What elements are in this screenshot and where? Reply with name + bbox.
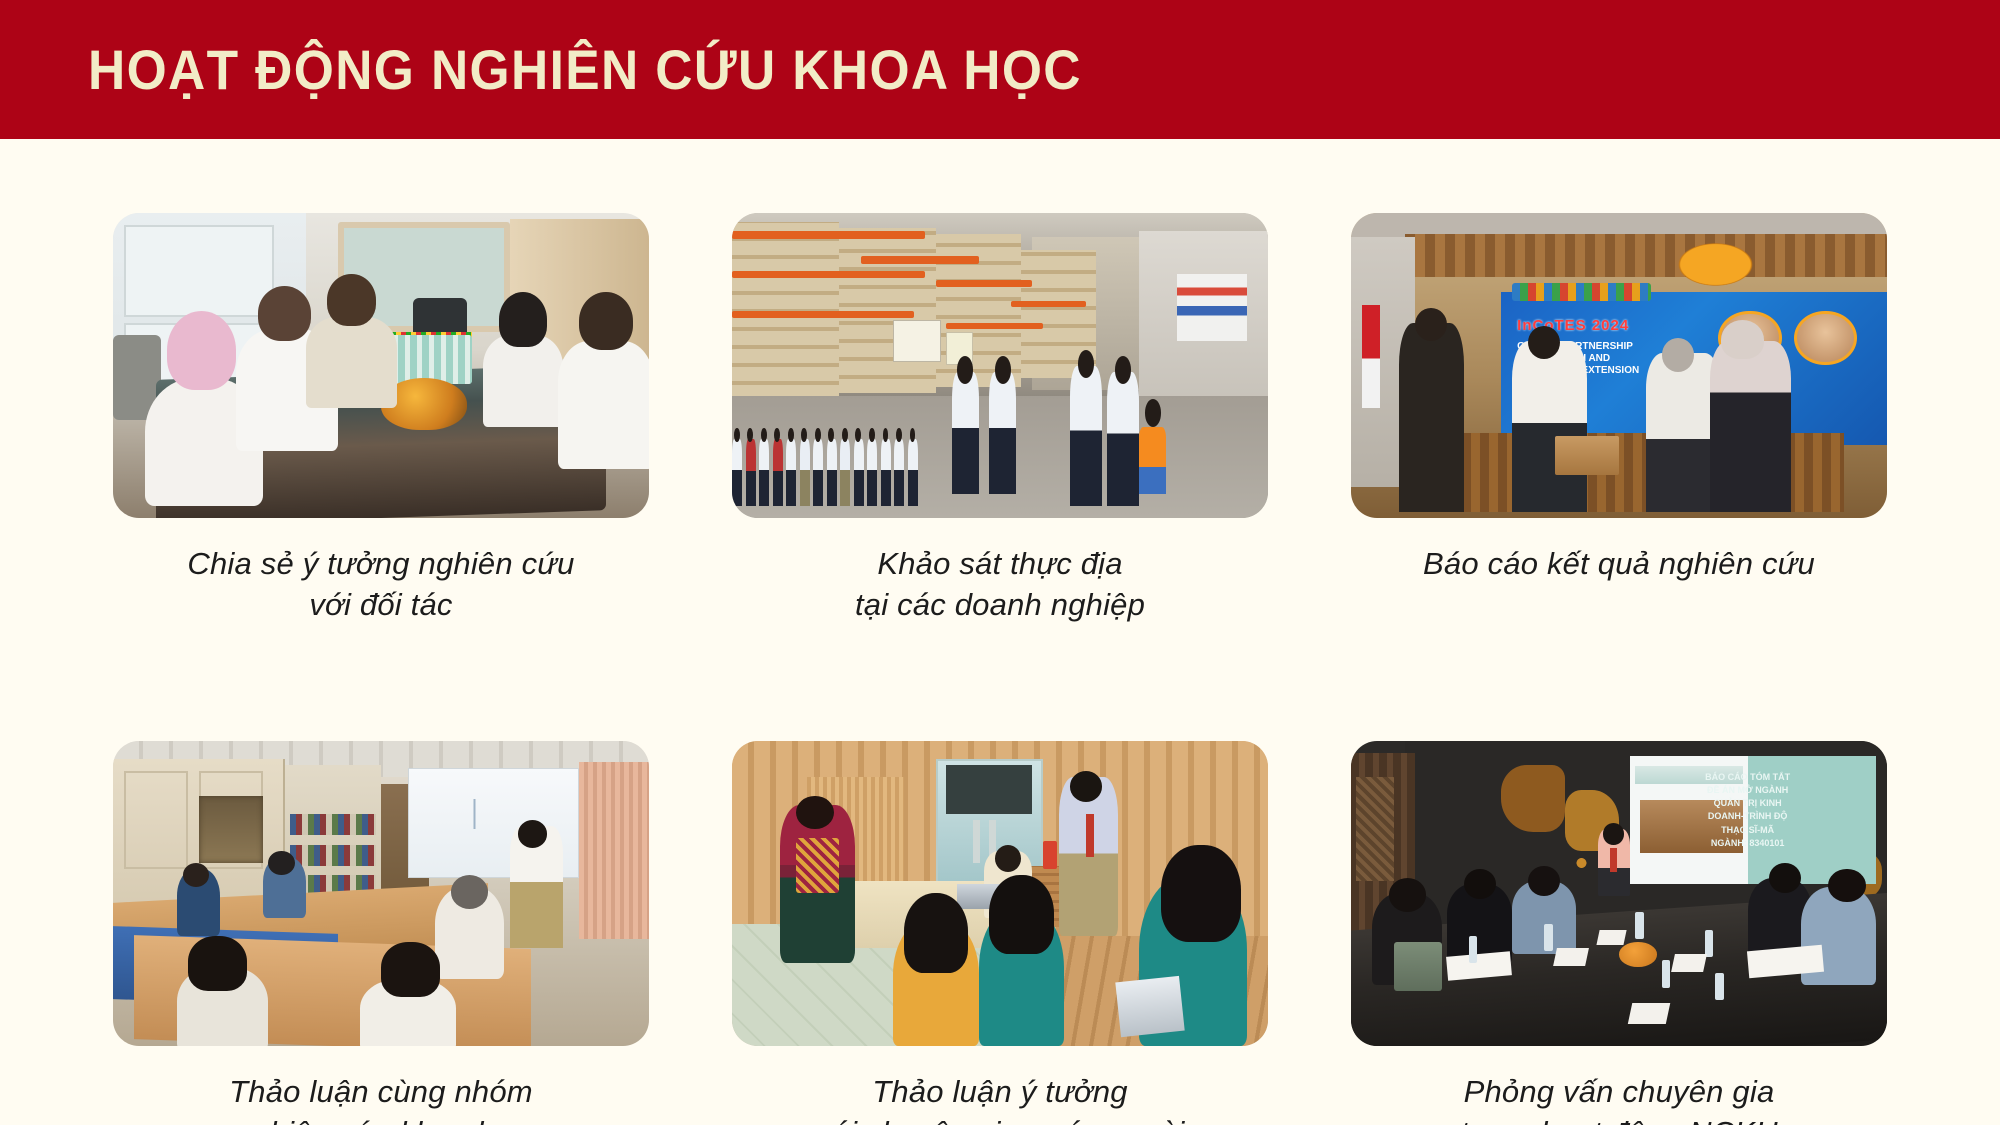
caption-3-line-1: Báo cáo kết quả nghiên cứu [1351, 544, 1887, 585]
photo-warehouse-field-survey[interactable] [732, 213, 1268, 518]
page-title: HOẠT ĐỘNG NGHIÊN CỨU KHOA HỌC [88, 42, 1082, 98]
boardroom-slide-title: BÁO CÁO TÓM TẮT ĐỀ ÁN MỞ NGÀNH QUẢN TRỊ … [1630, 771, 1866, 849]
header-banner: HOẠT ĐỘNG NGHIÊN CỨU KHOA HỌC [0, 0, 2000, 139]
gallery-item-6: BÁO CÁO TÓM TẮT ĐỀ ÁN MỞ NGÀNH QUẢN TRỊ … [1351, 741, 1887, 1125]
photo-expert-interview[interactable]: BÁO CÁO TÓM TẮT ĐỀ ÁN MỞ NGÀNH QUẢN TRỊ … [1351, 741, 1887, 1046]
slide-root: HOẠT ĐỘNG NGHIÊN CỨU KHOA HỌC [0, 0, 2000, 1125]
photo-foreign-expert-discussion[interactable] [732, 741, 1268, 1046]
photo-research-result-report[interactable]: InCoTES 2024 GLOBAL PARTNERSHIP IN RESEA… [1351, 213, 1887, 518]
caption-4: Thảo luận cùng nhóm nghiên cứu khoa học [113, 1072, 649, 1125]
gallery-item-3: InCoTES 2024 GLOBAL PARTNERSHIP IN RESEA… [1351, 213, 1887, 626]
caption-1: Chia sẻ ý tưởng nghiên cứu với đối tác [113, 544, 649, 626]
caption-2-line-2: tại các doanh nghiệp [732, 585, 1268, 626]
gallery-item-1: Chia sẻ ý tưởng nghiên cứu với đối tác [113, 213, 649, 626]
photo-gallery-grid: Chia sẻ ý tưởng nghiên cứu với đối tác [113, 213, 1887, 1125]
caption-6-line-2: trong hoạt động NCKH [1351, 1113, 1887, 1125]
gallery-item-5: Thảo luận ý tưởng với chuyên gia nước ng… [732, 741, 1268, 1125]
caption-2: Khảo sát thực địa tại các doanh nghiệp [732, 544, 1268, 626]
gallery-item-4: Thảo luận cùng nhóm nghiên cứu khoa học [113, 741, 649, 1125]
caption-5: Thảo luận ý tưởng với chuyên gia nước ng… [732, 1072, 1268, 1125]
caption-5-line-2: với chuyên gia nước ngoài [732, 1113, 1268, 1125]
caption-1-line-1: Chia sẻ ý tưởng nghiên cứu [113, 544, 649, 585]
caption-1-line-2: với đối tác [113, 585, 649, 626]
caption-2-line-1: Khảo sát thực địa [732, 544, 1268, 585]
photo-group-discussion[interactable] [113, 741, 649, 1046]
gallery-item-2: Khảo sát thực địa tại các doanh nghiệp [732, 213, 1268, 626]
caption-4-line-2: nghiên cứu khoa học [113, 1113, 649, 1125]
caption-5-line-1: Thảo luận ý tưởng [732, 1072, 1268, 1113]
photo-research-idea-sharing[interactable] [113, 213, 649, 518]
caption-3: Báo cáo kết quả nghiên cứu [1351, 544, 1887, 585]
garuda-emblem [1673, 240, 1759, 289]
caption-4-line-1: Thảo luận cùng nhóm [113, 1072, 649, 1113]
caption-6: Phỏng vấn chuyên gia trong hoạt động NCK… [1351, 1072, 1887, 1125]
caption-6-line-1: Phỏng vấn chuyên gia [1351, 1072, 1887, 1113]
